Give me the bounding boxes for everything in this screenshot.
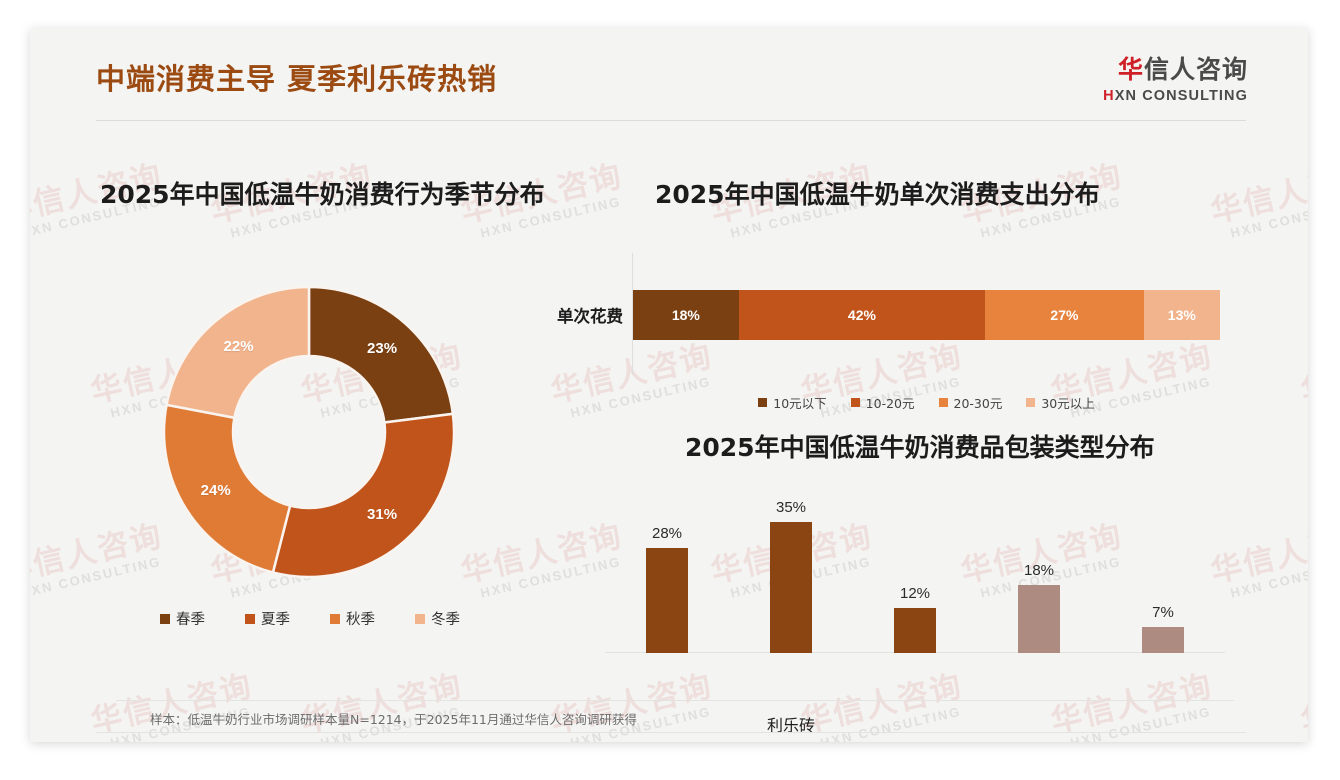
bar-column[interactable]: 18%塑料瓶 — [1018, 585, 1060, 653]
stacked-row-label: 单次花费 — [525, 303, 623, 327]
bar-chart-title: 2025年中国低温牛奶消费品包装类型分布 — [685, 428, 1155, 464]
watermark: 华信人咨询HXN CONSULTING — [296, 660, 470, 742]
slide-header: 中端消费主导 夏季利乐砖热销 华信人咨询 HXN CONSULTING — [30, 28, 1308, 128]
bar-column[interactable]: 7%纸盒 — [1142, 627, 1184, 653]
bar-value-label: 7% — [1123, 604, 1203, 621]
legend-label: 20-30元 — [954, 393, 1003, 412]
bar-rect[interactable] — [1142, 627, 1184, 653]
logo-english-rest: XN CONSULTING — [1115, 88, 1248, 104]
bar-value-label: 28% — [627, 525, 707, 542]
legend-label: 秋季 — [346, 608, 375, 629]
package-type-bar-chart: 28%利乐枕35%利乐砖12%玻璃瓶18%塑料瓶7%纸盒 — [595, 473, 1235, 688]
legend-swatch-icon — [939, 398, 948, 407]
footer-divider — [96, 732, 1246, 733]
legend-swatch-icon — [330, 614, 340, 624]
logo-chinese: 华信人咨询 — [1103, 50, 1248, 86]
legend-item[interactable]: 20-30元 — [939, 393, 1003, 412]
bar-value-label: 12% — [875, 585, 955, 602]
donut-chart-title: 2025年中国低温牛奶消费行为季节分布 — [100, 175, 545, 211]
bar-rect[interactable] — [894, 608, 936, 653]
donut-slice-label: 22% — [221, 338, 257, 355]
stacked-bar-track: 18%42%27%13% — [633, 290, 1220, 340]
watermark-en: HXN CONSULTING — [1229, 192, 1308, 241]
source-divider — [116, 700, 1234, 701]
stacked-bar-chart: 单次花费 18%42%27%13% 10元以下10-20元20-30元30元以上 — [525, 253, 1245, 428]
legend-swatch-icon — [415, 614, 425, 624]
legend-label: 10-20元 — [866, 393, 915, 412]
watermark-cn: 华信人咨询 — [1206, 150, 1308, 231]
donut-chart: 23%31%24%22% 春季夏季秋季冬季 — [120, 283, 480, 593]
legend-item[interactable]: 10-20元 — [851, 393, 915, 412]
watermark: 华信人咨询HXN CONSULTING — [86, 660, 260, 742]
source-note: 样本：低温牛奶行业市场调研样本量N=1214，于2025年11月通过华信人咨询调… — [150, 709, 637, 728]
legend-swatch-icon — [851, 398, 860, 407]
bar-column[interactable]: 28%利乐枕 — [646, 548, 688, 653]
legend-item[interactable]: 秋季 — [330, 608, 375, 629]
stacked-segment[interactable]: 18% — [633, 290, 739, 340]
legend-label: 冬季 — [431, 608, 460, 629]
bar-plot-area: 28%利乐枕35%利乐砖12%玻璃瓶18%塑料瓶7%纸盒 — [605, 473, 1225, 653]
donut-graphic: 23%31%24%22% — [160, 283, 458, 581]
legend-item[interactable]: 30元以上 — [1026, 393, 1094, 412]
stacked-legend: 10元以下10-20元20-30元30元以上 — [633, 393, 1220, 412]
legend-label: 30元以上 — [1041, 393, 1094, 412]
page-title: 中端消费主导 夏季利乐砖热销 — [96, 56, 497, 98]
watermark: 华信人咨询HXN CONSULTING — [1296, 660, 1308, 742]
bar-value-label: 35% — [751, 499, 831, 516]
legend-item[interactable]: 夏季 — [245, 608, 290, 629]
legend-swatch-icon — [245, 614, 255, 624]
legend-swatch-icon — [1026, 398, 1035, 407]
bar-rect[interactable] — [646, 548, 688, 653]
watermark-en: HXN CONSULTING — [1229, 552, 1308, 601]
stacked-segment[interactable]: 27% — [985, 290, 1143, 340]
stacked-chart-title: 2025年中国低温牛奶单次消费支出分布 — [655, 175, 1100, 211]
legend-label: 夏季 — [261, 608, 290, 629]
donut-svg — [160, 283, 458, 581]
company-logo: 华信人咨询 HXN CONSULTING — [1103, 50, 1248, 104]
legend-item[interactable]: 春季 — [160, 608, 205, 629]
donut-legend: 春季夏季秋季冬季 — [160, 608, 460, 629]
legend-swatch-icon — [160, 614, 170, 624]
donut-slice[interactable] — [273, 414, 454, 577]
bar-rect[interactable] — [1018, 585, 1060, 653]
watermark: 华信人咨询HXN CONSULTING — [1206, 150, 1308, 244]
legend-label: 春季 — [176, 608, 205, 629]
legend-item[interactable]: 冬季 — [415, 608, 460, 629]
logo-english-accent: H — [1103, 88, 1115, 104]
donut-slice-label: 24% — [198, 482, 234, 499]
header-divider — [96, 120, 1246, 121]
watermark-en: HXN CONSULTING — [1069, 702, 1220, 742]
donut-slice-label: 31% — [364, 506, 400, 523]
watermark-cn: 华信人咨询 — [1296, 330, 1308, 411]
legend-item[interactable]: 10元以下 — [758, 393, 826, 412]
bar-category-label: 利乐枕 — [612, 738, 722, 742]
stacked-segment[interactable]: 42% — [739, 290, 986, 340]
bar-rect[interactable] — [770, 522, 812, 653]
stacked-segment[interactable]: 13% — [1144, 290, 1220, 340]
logo-chinese-rest: 信人咨询 — [1144, 55, 1248, 84]
legend-swatch-icon — [758, 398, 767, 407]
legend-label: 10元以下 — [773, 393, 826, 412]
logo-chinese-accent: 华 — [1118, 55, 1144, 84]
watermark: 华信人咨询HXN CONSULTING — [1296, 330, 1308, 424]
bar-value-label: 18% — [999, 562, 1079, 579]
logo-english: HXN CONSULTING — [1103, 88, 1248, 104]
slide-canvas: 华信人咨询HXN CONSULTING华信人咨询HXN CONSULTING华信… — [30, 28, 1308, 742]
watermark-cn: 华信人咨询 — [1296, 660, 1308, 741]
bar-column[interactable]: 12%玻璃瓶 — [894, 608, 936, 653]
bar-column[interactable]: 35%利乐砖 — [770, 522, 812, 653]
donut-slice-label: 23% — [364, 340, 400, 357]
